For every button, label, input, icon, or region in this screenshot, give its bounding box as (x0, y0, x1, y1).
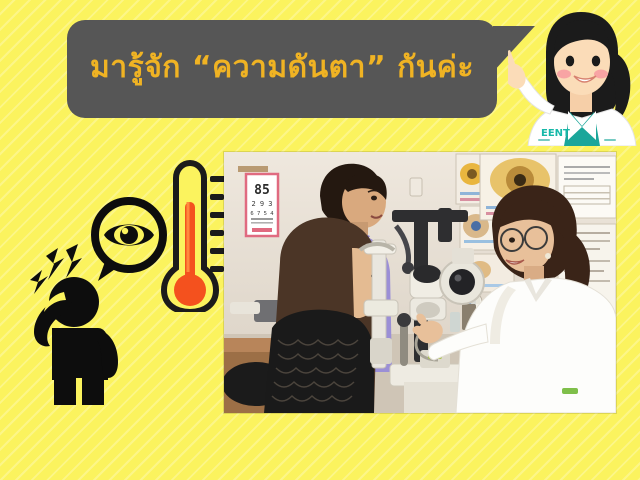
nurse-illustration: EENT (508, 6, 640, 146)
poster-canvas: มารู้จัก “ความดันตา” กันค่ะ (0, 0, 640, 480)
eye-chart-line-1: 85 (254, 183, 270, 198)
eye-clinic-examination-photo: 85 2 9 3 6 7 5 4 (224, 152, 616, 413)
eye-chart-line-2: 2 9 3 (251, 200, 272, 208)
title-speech-bubble: มารู้จัก “ความดันตา” กันค่ะ (67, 20, 497, 118)
eye-chart-line-3: 6 7 5 4 (250, 211, 274, 217)
coat-badge-text: EENT (541, 128, 570, 139)
clinic-scene: 85 2 9 3 6 7 5 4 (224, 152, 616, 413)
footer-contact-bar: โรงพยาบาลตาหูคอจมูก 02-886-6600 (0, 424, 640, 480)
page-title: มารู้จัก “ความดันตา” กันค่ะ (67, 20, 497, 118)
nurse-character: EENT (508, 6, 640, 146)
thermometer-icon (158, 160, 234, 312)
